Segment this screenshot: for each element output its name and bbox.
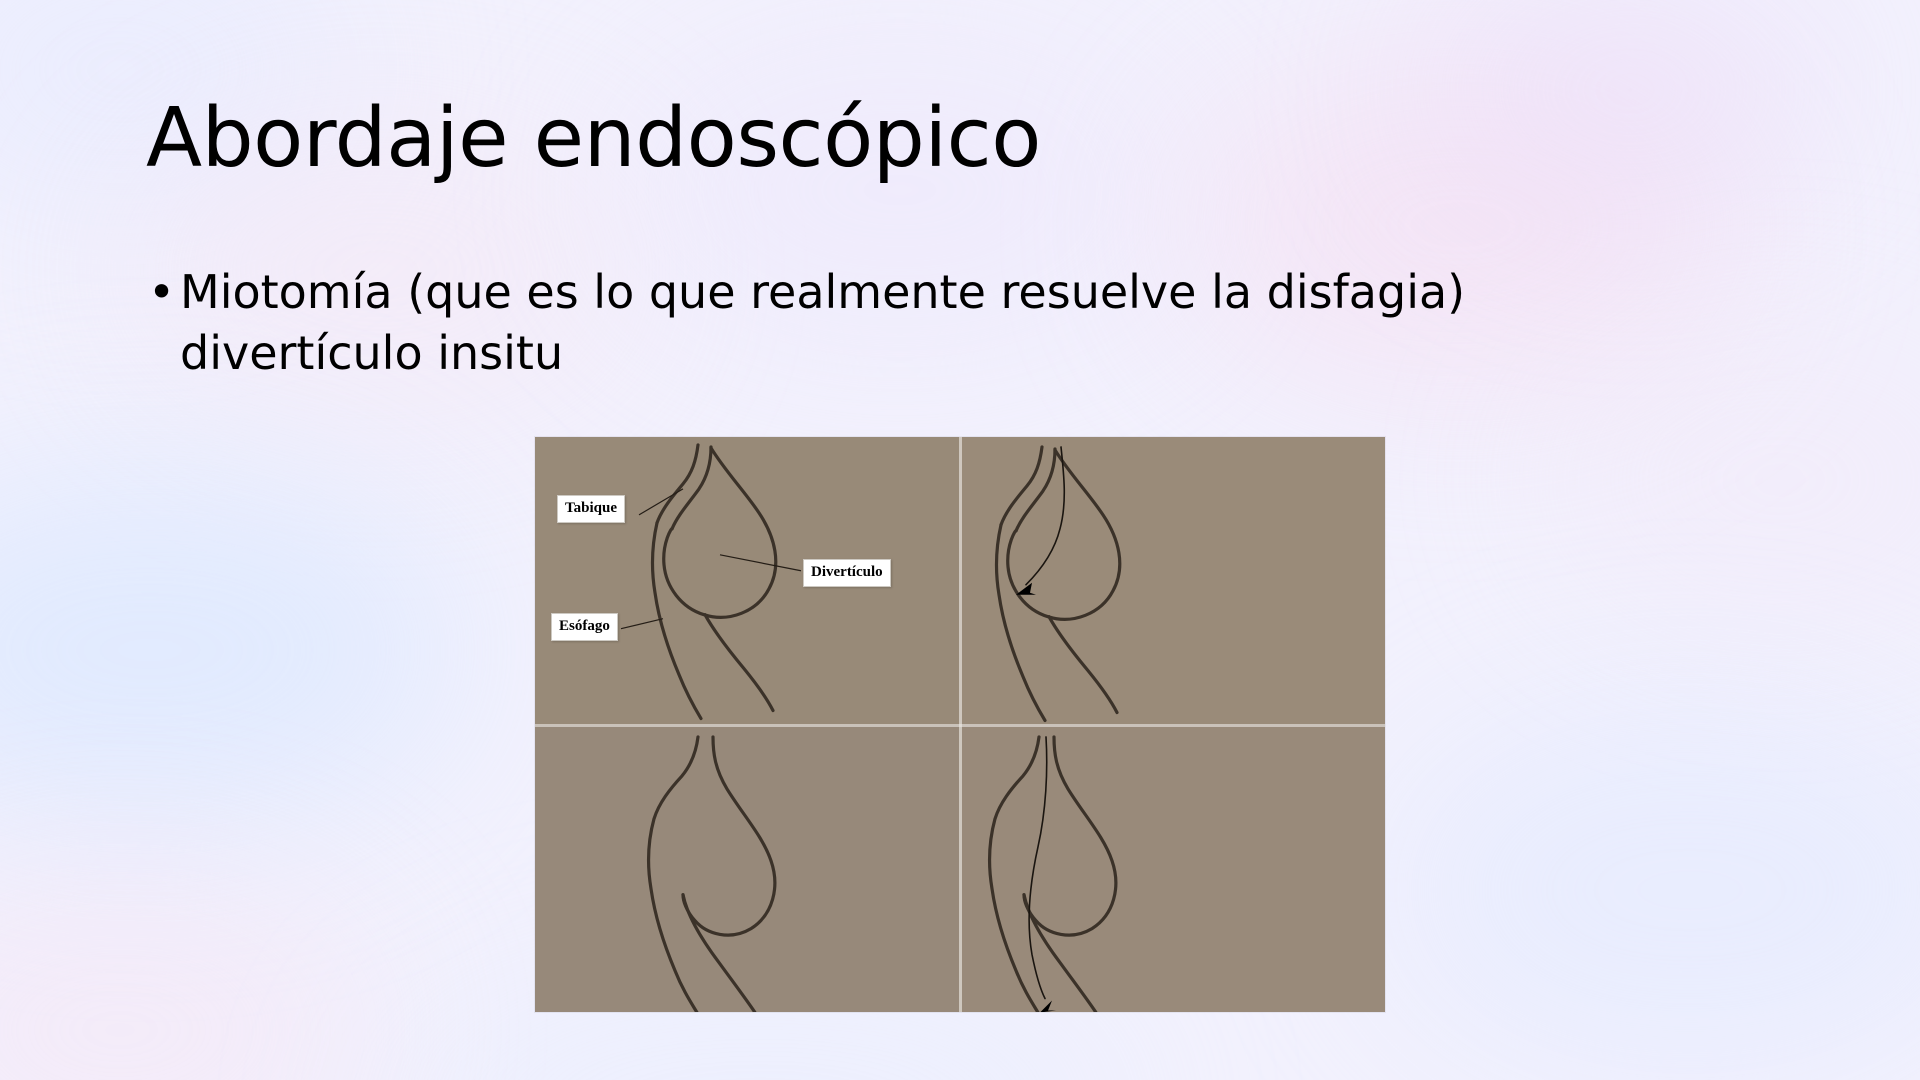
panel-1-leader-lines [535, 437, 960, 725]
bullet-text: Miotomía (que es lo que realmente resuel… [180, 265, 1465, 380]
bullet-list: • Miotomía (que es lo que realmente resu… [140, 262, 1620, 383]
figure-seam-horizontal [535, 724, 1385, 727]
figure-zenker-diverticulum-diagram: Tabique Esófago Divertículo [535, 437, 1385, 1012]
list-item: • Miotomía (que es lo que realmente resu… [140, 262, 1620, 383]
background-blob-blue-bottom-right [1380, 700, 1920, 1080]
panel-2-drawing [960, 437, 1385, 725]
background-blob-blue-left [0, 470, 460, 830]
bullet-marker-icon: • [148, 262, 175, 323]
panel-3-drawing [535, 725, 960, 1013]
panel-4-arrowhead-icon [1040, 1000, 1056, 1012]
figure-panel-top-right [960, 437, 1385, 725]
slide-canvas: Abordaje endoscópico • Miotomía (que es … [0, 0, 1920, 1080]
figure-panel-bottom-right [960, 725, 1385, 1013]
figure-panel-top-left: Tabique Esófago Divertículo [535, 437, 960, 725]
background-blob-pink-bottom-left [0, 880, 380, 1080]
panel-4-drawing [960, 725, 1385, 1013]
figure-panel-bottom-left [535, 725, 960, 1013]
slide-title: Abordaje endoscópico [146, 98, 1746, 180]
